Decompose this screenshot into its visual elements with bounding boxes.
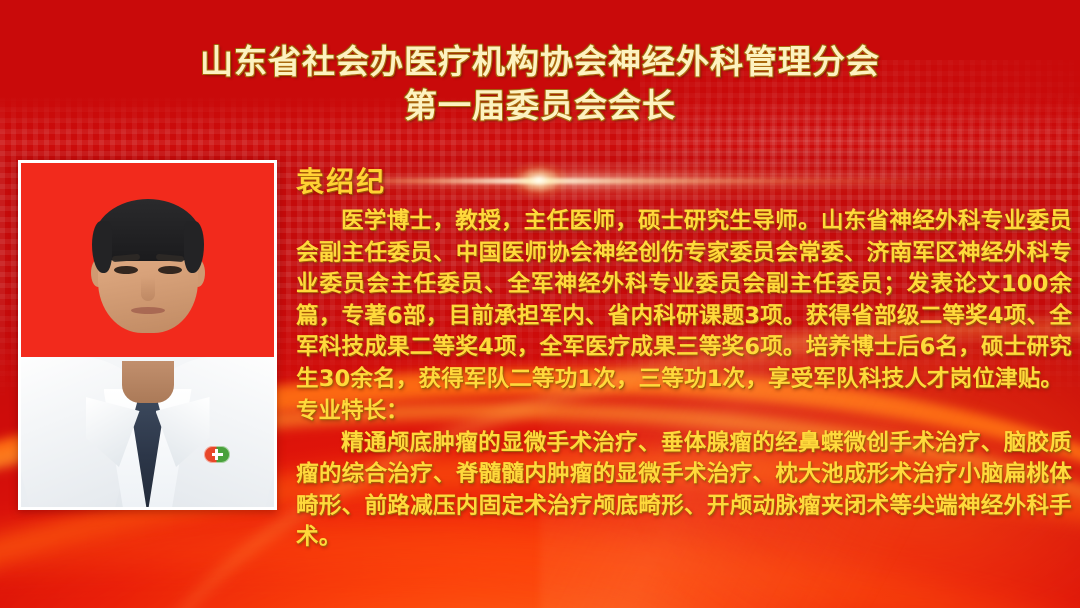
specialty-paragraph: 精通颅底肿瘤的显微手术治疗、垂体腺瘤的经鼻蝶微创手术治疗、脑胶质瘤的综合治疗、脊… bbox=[296, 428, 1072, 554]
portrait-eye-left bbox=[114, 266, 138, 274]
medical-cross-badge-icon bbox=[204, 446, 230, 463]
slide-title: 山东省社会办医疗机构协会神经外科管理分会 第一届委员会会长 bbox=[0, 40, 1080, 128]
person-name: 袁绍纪 bbox=[296, 164, 1072, 200]
title-line-2: 第一届委员会会长 bbox=[0, 84, 1080, 128]
portrait-hair-side-left bbox=[92, 221, 112, 273]
portrait-eye-right bbox=[158, 266, 182, 274]
portrait-photo-frame bbox=[18, 160, 277, 510]
portrait-neck bbox=[122, 361, 174, 403]
biography-paragraph: 医学博士，教授，主任医师，硕士研究生导师。山东省神经外科专业委员会副主任委员、中… bbox=[296, 206, 1072, 395]
title-line-1: 山东省社会办医疗机构协会神经外科管理分会 bbox=[0, 40, 1080, 84]
portrait-mouth bbox=[131, 307, 165, 314]
portrait-hair-side-right bbox=[184, 221, 204, 273]
profile-content: 袁绍纪 医学博士，教授，主任医师，硕士研究生导师。山东省神经外科专业委员会副主任… bbox=[296, 164, 1072, 554]
portrait-photo bbox=[21, 163, 274, 507]
slide-canvas: 山东省社会办医疗机构协会神经外科管理分会 第一届委员会会长 bbox=[0, 0, 1080, 608]
specialty-heading: 专业特长： bbox=[296, 396, 1072, 428]
portrait-nose bbox=[141, 277, 155, 301]
